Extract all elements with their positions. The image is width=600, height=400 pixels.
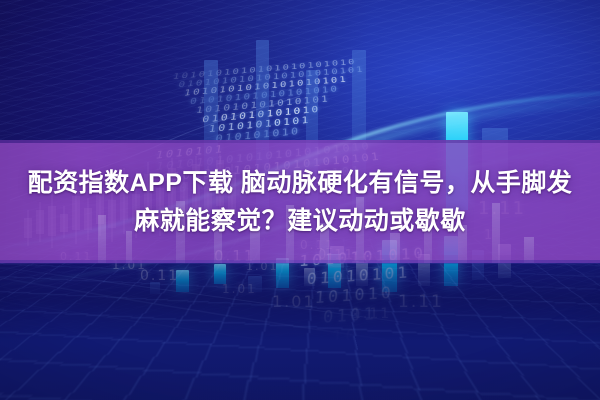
finance-banner: 1010101010101010101010010101010101010101… — [0, 0, 600, 400]
vignette-overlay — [0, 0, 600, 400]
